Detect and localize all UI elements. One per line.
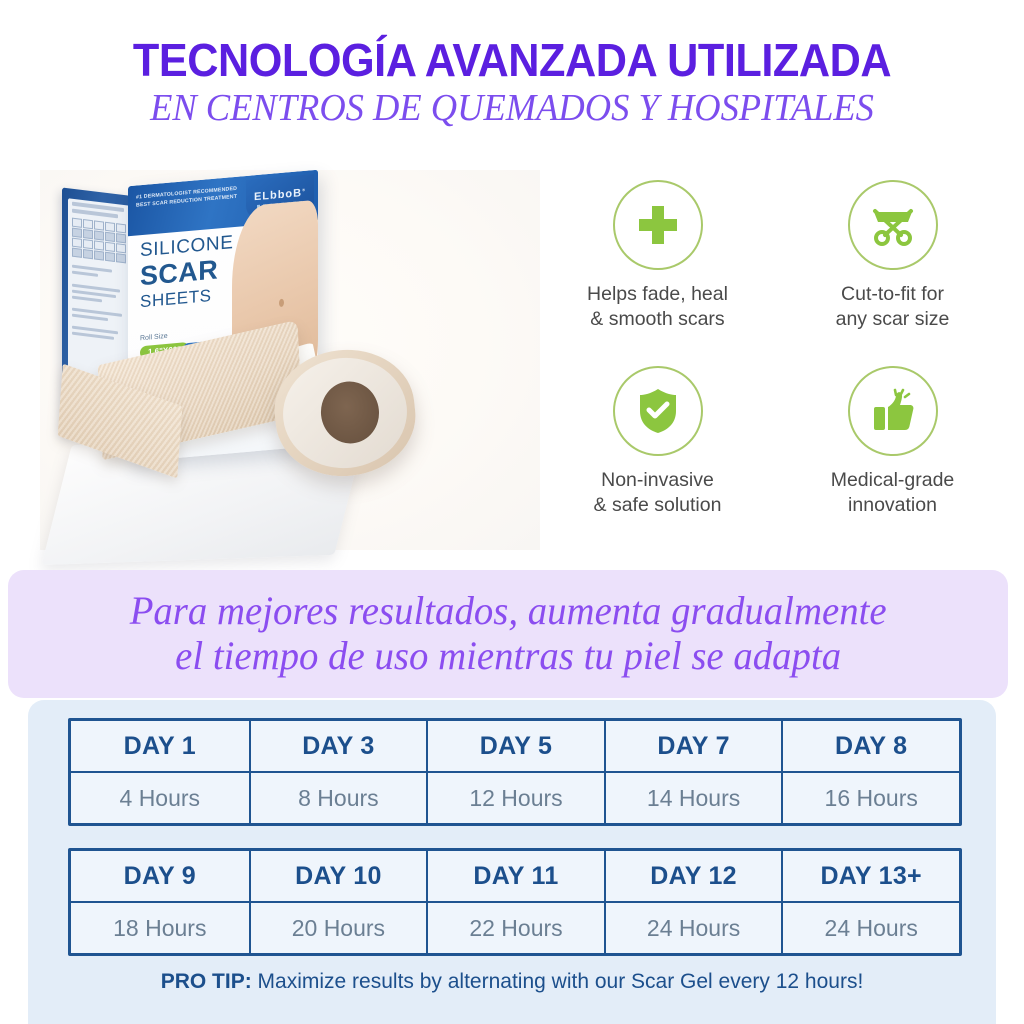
scissors-icon [848, 180, 938, 270]
hours-value: 24 Hours [783, 903, 959, 953]
benefit-item-4: Medical-grade innovation [775, 358, 1010, 544]
benefit-label-3: Non-invasive & safe solution [594, 468, 722, 519]
instruction-banner-text: Para mejores resultados, aumenta gradual… [130, 589, 887, 679]
hours-value: 16 Hours [783, 773, 959, 823]
hours-value: 20 Hours [251, 903, 427, 953]
benefit-label-1: Helps fade, heal & smooth scars [587, 282, 728, 333]
page-subtitle: EN CENTROS DE QUEMADOS Y HOSPITALES [20, 88, 1003, 130]
benefit-1-line-1: Helps fade, heal [587, 282, 728, 307]
instruction-banner: Para mejores resultados, aumenta gradual… [8, 570, 1008, 698]
pro-tip: PRO TIP: Maximize results by alternating… [28, 970, 996, 994]
schedule-table-row-2: DAY 9 18 Hours DAY 10 20 Hours DAY 11 22… [68, 848, 962, 956]
benefit-3-line-1: Non-invasive [594, 468, 722, 493]
instruction-line-2: el tiempo de uso mientras tu piel se ada… [130, 634, 887, 679]
day-header: DAY 1 [71, 721, 249, 773]
schedule-table-row-1: DAY 1 4 Hours DAY 3 8 Hours DAY 5 12 Hou… [68, 718, 962, 826]
benefit-item-1: Helps fade, heal & smooth scars [540, 172, 775, 358]
day-header: DAY 13+ [783, 851, 959, 903]
schedule-cell: DAY 11 22 Hours [426, 851, 604, 953]
schedule-cell: DAY 13+ 24 Hours [781, 851, 959, 953]
schedule-cell: DAY 12 24 Hours [604, 851, 782, 953]
schedule-cell: DAY 1 4 Hours [71, 721, 249, 823]
header: TECNOLOGÍA AVANZADA UTILIZADA EN CENTROS… [0, 36, 1024, 130]
schedule-cell: DAY 8 16 Hours [781, 721, 959, 823]
hours-value: 18 Hours [71, 903, 249, 953]
box-claim-text: #1 DERMATOLOGIST RECOMMENDED BEST SCAR R… [136, 184, 241, 209]
schedule-panel: DAY 1 4 Hours DAY 3 8 Hours DAY 5 12 Hou… [28, 700, 996, 1024]
box-title-line-2: SCAR [140, 255, 234, 290]
hours-value: 24 Hours [606, 903, 782, 953]
schedule-cell: DAY 7 14 Hours [604, 721, 782, 823]
product-photo: #1 DERMATOLOGIST RECOMMENDED BEST SCAR R… [40, 170, 540, 550]
roll-size-label: Roll Size [140, 333, 168, 342]
pro-tip-label: PRO TIP: [161, 970, 252, 993]
model-navel [279, 299, 284, 307]
thumbs-up-icon [848, 366, 938, 456]
box-product-title: SILICONE SCAR SHEETS [140, 233, 234, 310]
day-header: DAY 12 [606, 851, 782, 903]
benefit-label-2: Cut-to-fit for any scar size [836, 282, 950, 333]
benefit-4-line-1: Medical-grade [831, 468, 955, 493]
schedule-cell: DAY 9 18 Hours [71, 851, 249, 953]
benefit-1-line-2: & smooth scars [587, 307, 728, 332]
benefit-label-4: Medical-grade innovation [831, 468, 955, 519]
day-header: DAY 8 [783, 721, 959, 773]
benefit-item-3: Non-invasive & safe solution [540, 358, 775, 544]
schedule-cell: DAY 10 20 Hours [249, 851, 427, 953]
hero-section: #1 DERMATOLOGIST RECOMMENDED BEST SCAR R… [0, 160, 1024, 560]
brand-registered-mark: ® [302, 187, 306, 192]
benefit-2-line-2: any scar size [836, 307, 950, 332]
day-header: DAY 3 [251, 721, 427, 773]
schedule-cell: DAY 5 12 Hours [426, 721, 604, 823]
instruction-line-1: Para mejores resultados, aumenta gradual… [130, 589, 887, 634]
hours-value: 14 Hours [606, 773, 782, 823]
schedule-cell: DAY 3 8 Hours [249, 721, 427, 823]
side-panel-mini-table [72, 218, 126, 264]
day-header: DAY 11 [428, 851, 604, 903]
infographic-page: TECNOLOGÍA AVANZADA UTILIZADA EN CENTROS… [0, 0, 1024, 1024]
benefit-item-2: Cut-to-fit for any scar size [775, 172, 1010, 358]
shield-check-icon [613, 366, 703, 456]
benefit-2-line-1: Cut-to-fit for [836, 282, 950, 307]
hours-value: 8 Hours [251, 773, 427, 823]
benefits-grid: Helps fade, heal & smooth scars Cut-to-f… [540, 172, 1010, 544]
day-header: DAY 7 [606, 721, 782, 773]
page-title: TECNOLOGÍA AVANZADA UTILIZADA [31, 36, 994, 84]
benefit-3-line-2: & safe solution [594, 493, 722, 518]
pro-tip-text: Maximize results by alternating with our… [258, 970, 864, 993]
hours-value: 22 Hours [428, 903, 604, 953]
medical-cross-icon [613, 180, 703, 270]
day-header: DAY 5 [428, 721, 604, 773]
hours-value: 4 Hours [71, 773, 249, 823]
day-header: DAY 10 [251, 851, 427, 903]
benefit-4-line-2: innovation [831, 493, 955, 518]
hours-value: 12 Hours [428, 773, 604, 823]
day-header: DAY 9 [71, 851, 249, 903]
